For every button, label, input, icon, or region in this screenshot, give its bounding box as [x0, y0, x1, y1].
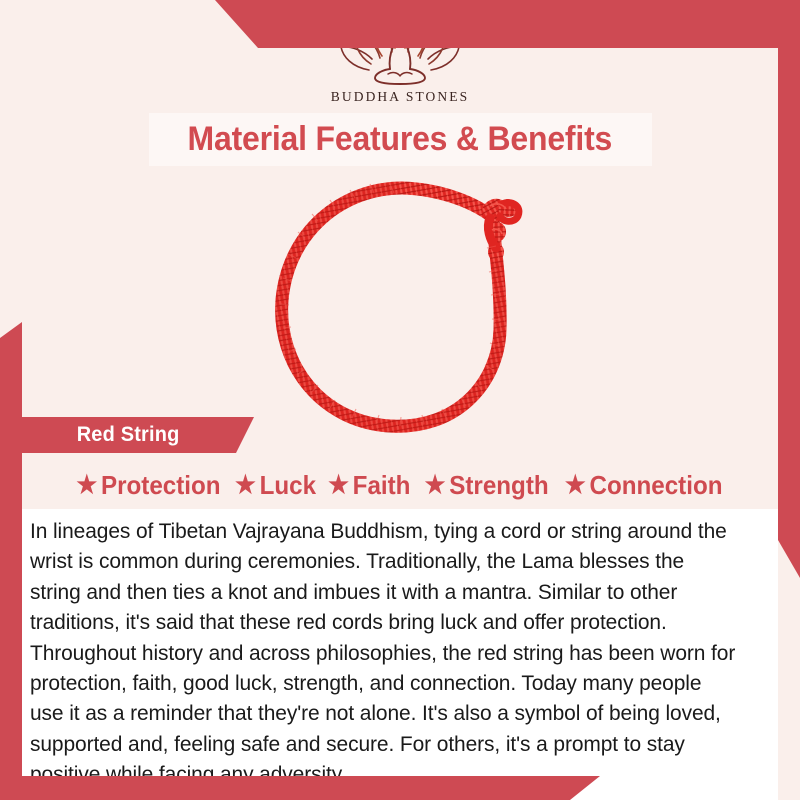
benefit-label: Luck: [260, 470, 316, 501]
benefit-item: ★ Luck: [235, 470, 316, 501]
benefit-item: ★ Strength: [425, 470, 549, 501]
benefit-item: ★ Faith: [329, 470, 411, 501]
star-icon: ★: [329, 473, 350, 498]
decorative-left-bar: [0, 322, 22, 800]
benefit-label: Protection: [101, 470, 221, 501]
star-icon: ★: [77, 473, 98, 498]
red-string-bracelet-image: [250, 160, 550, 460]
page-title: Material Features & Benefits: [188, 120, 613, 159]
benefit-label: Strength: [449, 470, 548, 501]
product-image-area: [22, 160, 778, 460]
product-label: Red String: [77, 423, 180, 447]
benefits-row: ★ Protection ★ Luck ★ Faith ★ Strength ★…: [22, 462, 778, 508]
brand-name: BUDDHA STONES: [331, 89, 469, 105]
product-label-banner: Red String: [22, 417, 254, 453]
star-icon: ★: [565, 473, 586, 498]
benefit-item: ★ Protection: [77, 470, 221, 501]
benefit-label: Faith: [353, 470, 411, 501]
page-title-band: Material Features & Benefits: [149, 113, 652, 166]
infographic-page: BUDDHA STONES Material Features & Benefi…: [0, 0, 800, 800]
decorative-right-bar: [778, 0, 800, 578]
description-panel: In lineages of Tibetan Vajrayana Buddhis…: [22, 509, 778, 800]
benefit-item: ★ Connection: [565, 470, 723, 501]
star-icon: ★: [425, 473, 446, 498]
benefit-label: Connection: [590, 470, 723, 501]
star-icon: ★: [235, 473, 256, 498]
decorative-bottom-bar: [0, 776, 640, 800]
description-text: In lineages of Tibetan Vajrayana Buddhis…: [30, 516, 740, 790]
